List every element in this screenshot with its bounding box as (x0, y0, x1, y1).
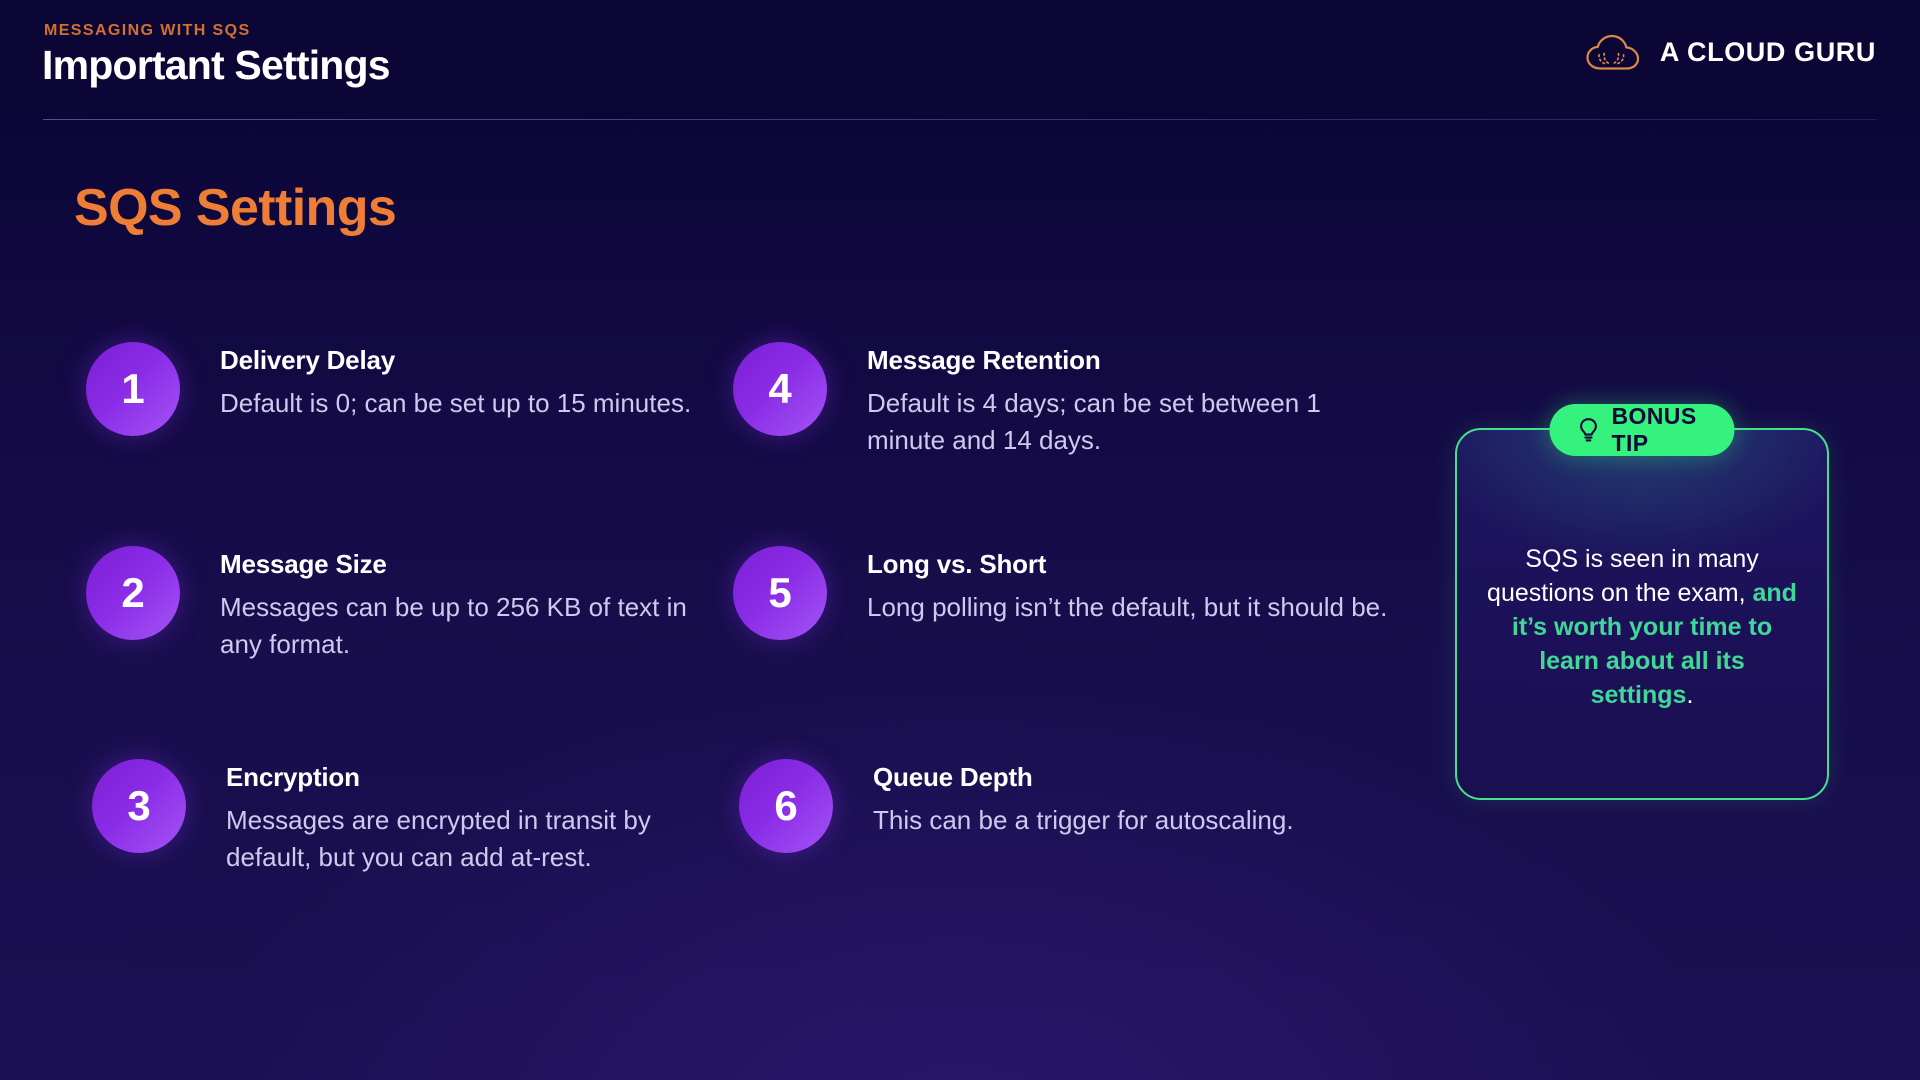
slide-header: MESSAGING WITH SQS Important Settings A … (0, 0, 1920, 122)
setting-item-title: Message Size (220, 550, 706, 580)
setting-item-body: Message Size Messages can be up to 256 K… (180, 544, 706, 663)
setting-number-badge: 6 (739, 759, 833, 853)
setting-item-body: Delivery Delay Default is 0; can be set … (180, 340, 691, 422)
setting-item-description: Messages can be up to 256 KB of text in … (220, 589, 706, 663)
setting-item-title: Message Retention (867, 346, 1393, 376)
setting-item-1: 1 Delivery Delay Default is 0; can be se… (86, 340, 691, 436)
bonus-tip-pill-label: BONUS TIP (1612, 403, 1707, 457)
setting-item-description: Long polling isn’t the default, but it s… (867, 589, 1387, 626)
setting-item-description: This can be a trigger for autoscaling. (873, 802, 1294, 839)
cloud-icon (1584, 32, 1644, 72)
bonus-tip-card: BONUS TIP SQS is seen in many questions … (1455, 428, 1829, 800)
header-divider (43, 119, 1877, 120)
setting-item-body: Message Retention Default is 4 days; can… (827, 340, 1393, 459)
setting-number-badge: 4 (733, 342, 827, 436)
setting-number-badge: 5 (733, 546, 827, 640)
setting-item-body: Encryption Messages are encrypted in tra… (186, 757, 706, 876)
bonus-tip-text-lead: SQS is seen in many questions on the exa… (1487, 545, 1759, 607)
setting-item-title: Long vs. Short (867, 550, 1387, 580)
lightbulb-icon (1578, 417, 1600, 443)
setting-item-2: 2 Message Size Messages can be up to 256… (86, 544, 706, 663)
setting-item-title: Queue Depth (873, 763, 1294, 793)
page-title: SQS Settings (74, 178, 396, 238)
setting-item-title: Delivery Delay (220, 346, 691, 376)
header-deck-title: Important Settings (42, 42, 390, 89)
brand-logo-text: A CLOUD GURU (1660, 37, 1876, 68)
setting-item-description: Messages are encrypted in transit by def… (226, 802, 706, 876)
setting-item-6: 6 Queue Depth This can be a trigger for … (739, 757, 1294, 853)
setting-number-badge: 1 (86, 342, 180, 436)
brand-logo: A CLOUD GURU (1584, 32, 1876, 72)
setting-item-body: Queue Depth This can be a trigger for au… (833, 757, 1294, 839)
setting-item-title: Encryption (226, 763, 706, 793)
setting-number-badge: 2 (86, 546, 180, 640)
setting-number-badge: 3 (92, 759, 186, 853)
header-eyebrow: MESSAGING WITH SQS (44, 22, 251, 40)
bonus-tip-text-tail: . (1686, 681, 1693, 709)
setting-item-body: Long vs. Short Long polling isn’t the de… (827, 544, 1387, 626)
setting-item-3: 3 Encryption Messages are encrypted in t… (92, 757, 706, 876)
setting-item-5: 5 Long vs. Short Long polling isn’t the … (733, 544, 1387, 640)
setting-item-description: Default is 4 days; can be set between 1 … (867, 385, 1393, 459)
bonus-tip-text: SQS is seen in many questions on the exa… (1485, 542, 1799, 712)
setting-item-4: 4 Message Retention Default is 4 days; c… (733, 340, 1393, 459)
setting-item-description: Default is 0; can be set up to 15 minute… (220, 385, 691, 422)
bonus-tip-pill: BONUS TIP (1550, 404, 1735, 456)
